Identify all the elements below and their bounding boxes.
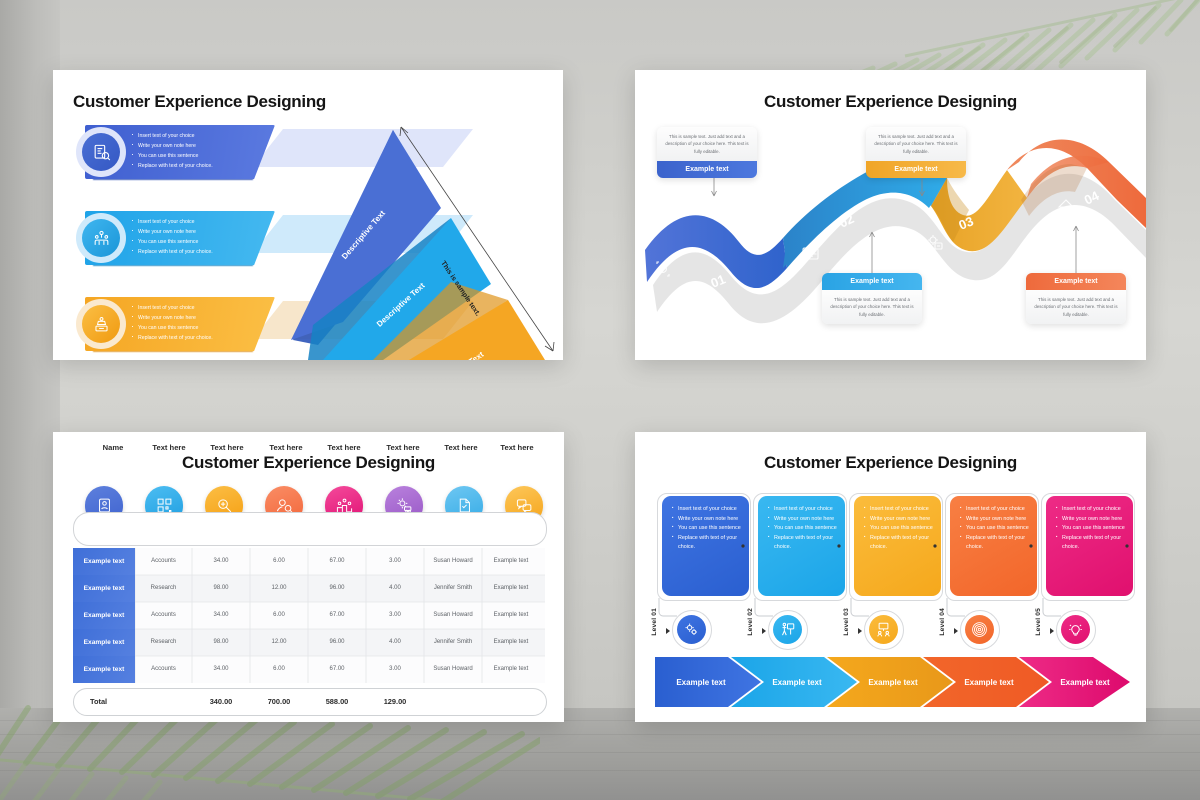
table-header-cell: Text here bbox=[193, 443, 261, 452]
bullet: Replace with text of your choice. bbox=[129, 161, 213, 171]
table-cell: 3.00 bbox=[366, 558, 424, 564]
table-cell: 67.00 bbox=[308, 558, 366, 564]
table-cell: 96.00 bbox=[308, 639, 366, 645]
arrow-label-text: Example text bbox=[943, 678, 1049, 687]
callout-card-02[interactable]: Example text This is sample text. Just a… bbox=[822, 273, 922, 324]
callout-description: This is sample text. Just add text and a… bbox=[822, 290, 922, 324]
table-cell-name: Example text bbox=[73, 656, 135, 683]
slide-3-table[interactable]: Customer Experience Designing Name Text … bbox=[53, 432, 564, 722]
table-cell: Example text bbox=[482, 666, 540, 672]
arrow-label-text: Example text bbox=[847, 678, 953, 687]
table-total-value: 588.00 bbox=[308, 697, 366, 706]
table-cell: 96.00 bbox=[308, 585, 366, 591]
bullet-list-2: Insert text of your choice Write your ow… bbox=[129, 217, 213, 257]
arrow-label-1[interactable]: Example text bbox=[655, 661, 761, 703]
table-cell: Example text bbox=[482, 558, 540, 564]
arrow-label-text: Example text bbox=[751, 678, 857, 687]
bullet: Insert text of your choice bbox=[129, 217, 213, 227]
table-cell: Accounts bbox=[135, 612, 192, 618]
table-total-value: 129.00 bbox=[366, 697, 424, 706]
bullet-list-3: Insert text of your choice Write your ow… bbox=[129, 303, 213, 343]
arrow-label-5[interactable]: Example text bbox=[1039, 661, 1145, 703]
arrow-label-3[interactable]: Example text bbox=[847, 661, 953, 703]
table-cell: Example text bbox=[482, 639, 540, 645]
table-cell: 98.00 bbox=[192, 639, 250, 645]
callout-card-03[interactable]: This is sample text. Just add text and a… bbox=[866, 127, 966, 178]
table-total-label: Total bbox=[90, 697, 107, 706]
table-cell: 6.00 bbox=[250, 612, 308, 618]
table-cell: 4.00 bbox=[366, 639, 424, 645]
table-cell-name: Example text bbox=[73, 575, 135, 602]
table-cell: 12.00 bbox=[250, 585, 308, 591]
slide-2-wave[interactable]: Customer Experience Designing bbox=[635, 70, 1146, 360]
bullet-list-1: Insert text of your choice Write your ow… bbox=[129, 131, 213, 171]
analytics-icon bbox=[82, 133, 120, 171]
table-cell: 12.00 bbox=[250, 639, 308, 645]
bullet: Replace with text of your choice. bbox=[129, 333, 213, 343]
callout-card-01[interactable]: This is sample text. Just add text and a… bbox=[657, 127, 757, 178]
teamwork-icon bbox=[82, 219, 120, 257]
table-cell: Susan Howard bbox=[424, 666, 482, 672]
presentation-icon bbox=[82, 305, 120, 343]
table-cell-name: Example text bbox=[73, 548, 135, 575]
bullet: Write your own note here bbox=[129, 141, 213, 151]
table-cell: Susan Howard bbox=[424, 558, 482, 564]
table-header-row bbox=[73, 512, 547, 546]
table-cell-name: Example text bbox=[73, 629, 135, 656]
table-cell: 3.00 bbox=[366, 612, 424, 618]
bullet: You can use this sentence bbox=[129, 151, 213, 161]
funnel-row-1[interactable]: Insert text of your choice Write your ow… bbox=[85, 125, 285, 179]
table-cell: 67.00 bbox=[308, 666, 366, 672]
table-cell: 34.00 bbox=[192, 558, 250, 564]
table-cell: Jennifer Smith bbox=[424, 639, 482, 645]
table-cell: Accounts bbox=[135, 666, 192, 672]
slide-4-process[interactable]: Customer Experience Designing Insert tex… bbox=[635, 432, 1146, 722]
table-cell: 6.00 bbox=[250, 558, 308, 564]
callout-label[interactable]: Example text bbox=[657, 161, 757, 178]
callout-description: This is sample text. Just add text and a… bbox=[1026, 290, 1126, 324]
callout-label[interactable]: Example text bbox=[822, 273, 922, 290]
funnel-row-2[interactable]: Insert text of your choice Write your ow… bbox=[85, 211, 285, 265]
table-header-cell: Text here bbox=[310, 443, 378, 452]
table-cell-name: Example text bbox=[73, 602, 135, 629]
table-total-value: 700.00 bbox=[250, 697, 308, 706]
callout-card-04[interactable]: Example text This is sample text. Just a… bbox=[1026, 273, 1126, 324]
table-cell: Research bbox=[135, 585, 192, 591]
table-cell: 6.00 bbox=[250, 666, 308, 672]
bullet: Insert text of your choice bbox=[129, 131, 213, 141]
table-cell: 34.00 bbox=[192, 666, 250, 672]
callout-label[interactable]: Example text bbox=[866, 161, 966, 178]
table-cell: Research bbox=[135, 639, 192, 645]
arrow-label-text: Example text bbox=[1039, 678, 1145, 687]
callout-description: This is sample text. Just add text and a… bbox=[657, 127, 757, 161]
arrow-label-2[interactable]: Example text bbox=[751, 661, 857, 703]
wall-left-shadow bbox=[0, 0, 60, 712]
bullet: You can use this sentence bbox=[129, 237, 213, 247]
callout-description: This is sample text. Just add text and a… bbox=[866, 127, 966, 161]
arrow-label-4[interactable]: Example text bbox=[943, 661, 1049, 703]
bullet: Write your own note here bbox=[129, 227, 213, 237]
table-header-cell: Text here bbox=[483, 443, 551, 452]
callout-label[interactable]: Example text bbox=[1026, 273, 1126, 290]
bullet: You can use this sentence bbox=[129, 323, 213, 333]
table-total-value: 340.00 bbox=[192, 697, 250, 706]
table-cell: 98.00 bbox=[192, 585, 250, 591]
table-cell: Accounts bbox=[135, 558, 192, 564]
table-cell: 34.00 bbox=[192, 612, 250, 618]
bullet: Insert text of your choice bbox=[129, 303, 213, 313]
table-cell: 3.00 bbox=[366, 666, 424, 672]
table-cell: Example text bbox=[482, 612, 540, 618]
table-cell: Susan Howard bbox=[424, 612, 482, 618]
bullet: Write your own note here bbox=[129, 313, 213, 323]
bullet: Replace with text of your choice. bbox=[129, 247, 213, 257]
page-title: Customer Experience Designing bbox=[53, 453, 564, 473]
funnel-row-3[interactable]: Insert text of your choice Write your ow… bbox=[85, 297, 285, 351]
slide-1-funnel[interactable]: Customer Experience Designing Descriptiv… bbox=[53, 70, 563, 360]
table-cell: 67.00 bbox=[308, 612, 366, 618]
table-cell: Jennifer Smith bbox=[424, 585, 482, 591]
arrow-label-text: Example text bbox=[655, 678, 761, 687]
table-cell: 4.00 bbox=[366, 585, 424, 591]
table-cell: Example text bbox=[482, 585, 540, 591]
